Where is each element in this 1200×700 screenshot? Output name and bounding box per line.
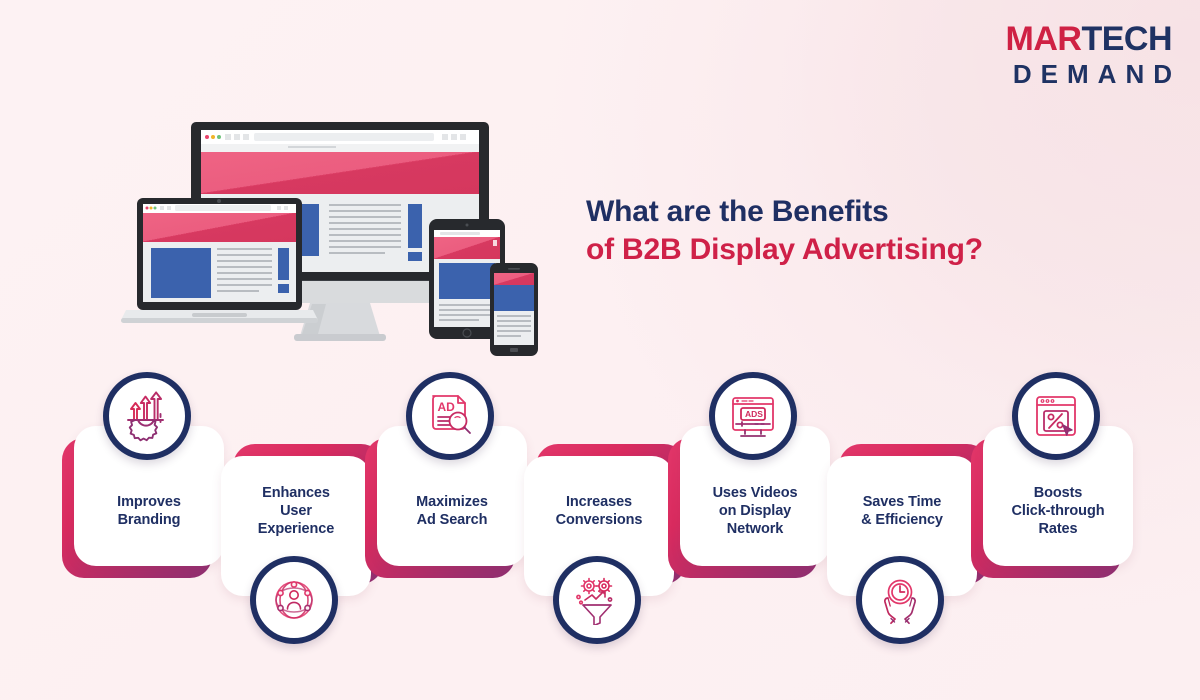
page-title-line-1: What are the Benefits bbox=[586, 193, 983, 231]
benefit-label: Boosts Click-through Rates bbox=[1004, 485, 1113, 538]
ads-video-monitor-icon: ADS bbox=[709, 372, 797, 460]
page-title: What are the Benefits of B2B Display Adv… bbox=[586, 193, 983, 270]
user-network-icon bbox=[250, 556, 338, 644]
benefit-card-boosts-click-through-rates[interactable]: Boosts Click-through Rates bbox=[981, 416, 1133, 616]
growth-arrows-gear-icon bbox=[103, 372, 191, 460]
benefit-label: Improves Branding bbox=[109, 494, 189, 529]
benefit-label: Uses Videos on Display Network bbox=[705, 485, 806, 538]
smartphone-icon bbox=[490, 263, 538, 356]
gears-funnel-conversion-icon bbox=[553, 556, 641, 644]
benefit-card-uses-videos-display-network[interactable]: Uses Videos on Display Network ADS bbox=[678, 416, 830, 616]
infographic-canvas: MARTECH DEMAND What are the Benefits of … bbox=[0, 0, 1200, 700]
page-title-line-2: of B2B Display Advertising? bbox=[586, 231, 983, 269]
logo-text-tech: TECH bbox=[1081, 20, 1172, 58]
benefit-card-increases-conversions[interactable]: Increases Conversions bbox=[526, 456, 678, 656]
martech-demand-logo: MARTECH DEMAND bbox=[1006, 22, 1173, 87]
benefit-card-improves-branding[interactable]: Improves Branding bbox=[72, 416, 224, 616]
hands-holding-clock-icon bbox=[856, 556, 944, 644]
logo-text-mar: MAR bbox=[1006, 20, 1082, 58]
benefit-card-enhances-user-experience[interactable]: Enhances User Experience bbox=[223, 456, 375, 656]
browser-percent-cursor-icon bbox=[1012, 372, 1100, 460]
benefit-card-saves-time-efficiency[interactable]: Saves Time & Efficiency bbox=[829, 456, 981, 656]
benefit-label: Saves Time & Efficiency bbox=[853, 494, 951, 529]
ad-document-search-icon: AD bbox=[406, 372, 494, 460]
benefit-card-maximizes-ad-search[interactable]: Maximizes Ad Search AD bbox=[375, 416, 527, 616]
logo-line-2: DEMAND bbox=[1006, 61, 1182, 87]
benefit-label: Enhances User Experience bbox=[250, 485, 342, 538]
devices-svg bbox=[112, 118, 542, 360]
svg-text:ADS: ADS bbox=[745, 409, 763, 419]
laptop-icon bbox=[121, 198, 318, 323]
logo-line-1: MARTECH bbox=[1006, 22, 1173, 56]
benefit-label: Maximizes Ad Search bbox=[408, 494, 496, 529]
responsive-devices-illustration bbox=[112, 118, 542, 360]
svg-text:AD: AD bbox=[438, 400, 456, 414]
benefit-label: Increases Conversions bbox=[548, 494, 651, 529]
benefits-card-row: Improves Branding Enhances User Experien… bbox=[0, 392, 1200, 632]
